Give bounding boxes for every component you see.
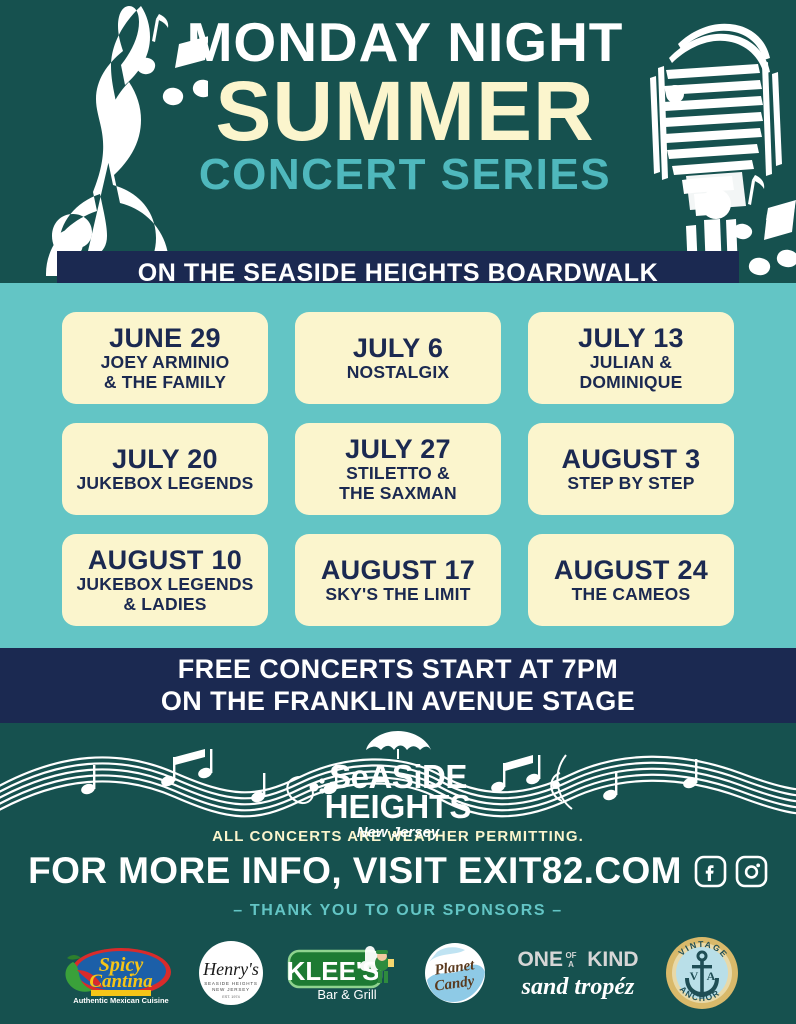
svg-text:EST. 1974: EST. 1974 xyxy=(222,995,240,999)
schedule-section: JUNE 29JOEY ARMINIO& THE FAMILYJULY 6NOS… xyxy=(0,283,796,648)
concert-card[interactable]: JULY 20JUKEBOX LEGENDS xyxy=(62,423,268,515)
concert-card[interactable]: JUNE 29JOEY ARMINIO& THE FAMILY xyxy=(62,312,268,404)
svg-text:sand tropéz: sand tropéz xyxy=(521,974,635,1000)
concert-artist: JUKEBOX LEGENDS& LADIES xyxy=(76,575,253,614)
concert-date: AUGUST 17 xyxy=(321,556,475,584)
svg-text:ONE KIND: ONE KIND xyxy=(517,948,638,971)
free-concert-banner: FREE CONCERTS START AT 7PM ON THE FRANKL… xyxy=(0,648,796,723)
sponsor-spicy-cantina[interactable]: Spicy Cantina Authentic Mexican Cuisine xyxy=(55,940,177,1006)
logo-line-2: HEIGHTS xyxy=(298,792,498,822)
facebook-icon[interactable] xyxy=(694,855,727,888)
concert-date: JULY 6 xyxy=(353,334,443,362)
concert-card[interactable]: JULY 13JULIAN &DOMINIQUE xyxy=(528,312,734,404)
sponsor-planet-candy[interactable]: Planet Candy xyxy=(417,940,493,1006)
concert-date: AUGUST 24 xyxy=(554,556,708,584)
concert-artist: STEP BY STEP xyxy=(567,474,694,494)
social-icons xyxy=(694,855,768,888)
svg-text:NEW JERSEY: NEW JERSEY xyxy=(212,987,250,992)
logo-line-3: New Jersey xyxy=(298,824,498,842)
concert-card[interactable]: AUGUST 3STEP BY STEP xyxy=(528,423,734,515)
title-line-3: CONCERT SERIES xyxy=(170,152,640,198)
info-row: FOR MORE INFO, VISIT EXIT82.COM xyxy=(0,850,796,892)
title-block: MONDAY NIGHT SUMMER CONCERT SERIES xyxy=(170,14,640,199)
boardwalk-banner-text: ON THE SEASIDE HEIGHTS BOARDWALK xyxy=(138,259,659,284)
concert-card[interactable]: AUGUST 24THE CAMEOS xyxy=(528,534,734,626)
svg-text:Bar & Grill: Bar & Grill xyxy=(317,987,376,1002)
sponsor-logos: Spicy Cantina Authentic Mexican Cuisine … xyxy=(0,928,796,1018)
concert-artist: JULIAN &DOMINIQUE xyxy=(580,353,683,392)
concert-date: JULY 13 xyxy=(578,324,684,352)
concert-card[interactable]: AUGUST 10JUKEBOX LEGENDS& LADIES xyxy=(62,534,268,626)
svg-text:SEASIDE HEIGHTS: SEASIDE HEIGHTS xyxy=(204,981,258,986)
svg-text:V: V xyxy=(690,969,699,983)
sponsors-heading: – THANK YOU TO OUR SPONSORS – xyxy=(0,902,796,920)
concert-poster: MONDAY NIGHT SUMMER CONCERT SERIES xyxy=(0,0,796,1024)
concert-date: AUGUST 10 xyxy=(88,546,242,574)
sponsor-vintage-anchor[interactable]: V A VINTAGE ANCHOR xyxy=(663,934,741,1012)
concert-date: JULY 27 xyxy=(345,435,451,463)
vintage-microphone-icon xyxy=(630,8,796,276)
sponsor-klees[interactable]: KLEE'S Bar & Grill xyxy=(285,943,397,1003)
sponsor-henrys[interactable]: Henry's SEASIDE HEIGHTS NEW JERSEY EST. … xyxy=(197,939,265,1007)
svg-text:Henry's: Henry's xyxy=(202,959,259,979)
concert-date: JUNE 29 xyxy=(109,324,221,352)
poster-footer: SeASiDE HEIGHTS New Jersey ALL CONCERTS … xyxy=(0,723,796,1024)
concert-card[interactable]: AUGUST 17SKY'S THE LIMIT xyxy=(295,534,501,626)
concert-card[interactable]: JULY 6NOSTALGIX xyxy=(295,312,501,404)
concert-card[interactable]: JULY 27STILETTO &THE SAXMAN xyxy=(295,423,501,515)
concert-artist: JOEY ARMINIO& THE FAMILY xyxy=(101,353,230,392)
more-info-text: FOR MORE INFO, VISIT EXIT82.COM xyxy=(28,850,682,892)
instagram-icon[interactable] xyxy=(735,855,768,888)
concert-artist: NOSTALGIX xyxy=(347,363,450,383)
seaside-heights-logo: SeASiDE HEIGHTS New Jersey xyxy=(298,729,498,842)
concert-artist: SKY'S THE LIMIT xyxy=(325,585,470,605)
svg-text:Authentic Mexican Cuisine: Authentic Mexican Cuisine xyxy=(73,996,168,1005)
sponsor-one-of-a-kind[interactable]: ONE KIND OF A sand tropéz xyxy=(513,942,643,1004)
svg-text:A: A xyxy=(568,960,574,969)
concert-artist: STILETTO &THE SAXMAN xyxy=(339,464,457,503)
concert-date: JULY 20 xyxy=(112,445,218,473)
beach-umbrella-icon xyxy=(363,729,433,759)
free-banner-line-2: ON THE FRANKLIN AVENUE STAGE xyxy=(161,686,635,718)
svg-text:Cantina: Cantina xyxy=(89,971,153,992)
boardwalk-banner: ON THE SEASIDE HEIGHTS BOARDWALK xyxy=(57,251,739,283)
concert-date: AUGUST 3 xyxy=(562,445,701,473)
schedule-grid: JUNE 29JOEY ARMINIO& THE FAMILYJULY 6NOS… xyxy=(62,312,734,626)
title-line-1: MONDAY NIGHT xyxy=(170,14,640,70)
concert-artist: THE CAMEOS xyxy=(572,585,691,605)
svg-text:OF: OF xyxy=(565,951,576,960)
poster-header: MONDAY NIGHT SUMMER CONCERT SERIES xyxy=(0,0,796,283)
svg-text:A: A xyxy=(707,969,716,983)
free-banner-line-1: FREE CONCERTS START AT 7PM xyxy=(178,654,618,686)
title-line-2: SUMMER xyxy=(170,70,640,152)
concert-artist: JUKEBOX LEGENDS xyxy=(76,474,253,494)
